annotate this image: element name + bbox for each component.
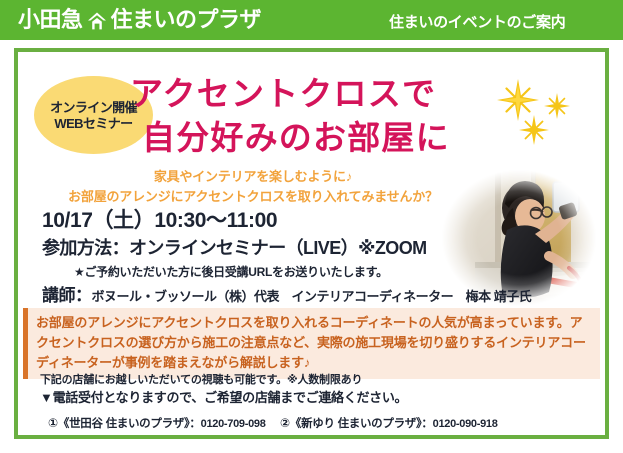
sparkle-star-icon <box>497 79 539 126</box>
list-item: ②《新ゆり 住まいのプラザ》：0120-090-918 <box>280 414 498 433</box>
headline-line-1: アクセントクロスで <box>130 72 490 116</box>
store-number: ① <box>48 416 58 430</box>
description-box: お部屋のアレンジにアクセントクロスを取り入れるコーディネートの人気が高まっていま… <box>23 308 600 379</box>
header-tagline: 住まいのイベントのご案内 <box>389 11 565 32</box>
list-item: ④《湘南 住まいのプラザ》：0120-233-309 <box>280 433 486 439</box>
sparkle-star-icon <box>519 115 549 150</box>
sparkle-star-icon <box>544 93 570 124</box>
store-name: 《あつぎ 住まいのプラザ》 <box>58 437 190 439</box>
footer-notes: 下記の店舗にお越しいただいての視聴も可能です。※人数制限あり ▼電話受付となりま… <box>40 373 600 439</box>
lead-copy: 家具やインテリアを楽しむように♪ お部屋のアレンジにアクセントクロスを取り入れて… <box>18 167 488 206</box>
list-item: ①《世田谷 住まいのプラザ》：0120-709-098 <box>48 414 280 433</box>
event-details: 10/17（土）10:30〜11:00 参加方法：オンラインセミナー（LIVE）… <box>42 208 531 308</box>
event-lecturer: 講師：ボヌール・ブッソール（株）代表 インテリアコーディネーター 梅本 靖子氏 <box>42 284 531 308</box>
footer-note-1: 下記の店舗にお越しいただいての視聴も可能です。※人数制限あり <box>40 373 600 388</box>
badge-line-2: WEBセミナー <box>54 117 132 130</box>
store-separator: ： <box>421 418 432 430</box>
store-number: ② <box>280 416 290 430</box>
store-phone[interactable]: 0120-233-309 <box>421 437 486 439</box>
flyer-panel: オンライン開催 WEBセミナー アクセントクロスで 自分好みのお部屋に 家具やイ… <box>14 48 609 439</box>
lead-line-2: お部屋のアレンジにアクセントクロスを取り入れてみませんか？ <box>18 187 488 207</box>
badge-line-1: オンライン開催 <box>50 101 137 114</box>
store-row: ①《世田谷 住まいのプラザ》：0120-709-098 ②《新ゆり 住まいのプラ… <box>48 414 600 433</box>
store-name: 《湘南 住まいのプラザ》 <box>290 437 410 439</box>
store-separator: ： <box>189 418 200 430</box>
event-url-note: ★ご予約いただいた方に後日受講URLをお送りいたします。 <box>42 264 531 281</box>
store-separator: ： <box>189 437 200 439</box>
lead-line-1: 家具やインテリアを楽しむように♪ <box>18 167 488 187</box>
list-item: ③《あつぎ 住まいのプラザ》：0120-096-209 <box>48 433 280 439</box>
store-separator: ： <box>410 437 421 439</box>
brand-logo: 小田急 住まいのプラザ <box>18 9 261 31</box>
store-phone[interactable]: 0120-709-098 <box>201 418 266 430</box>
store-number: ③ <box>48 435 58 439</box>
store-list: ①《世田谷 住まいのプラザ》：0120-709-098 ②《新ゆり 住まいのプラ… <box>40 414 600 439</box>
event-datetime: 10/17（土）10:30〜11:00 <box>42 208 531 234</box>
store-row: ③《あつぎ 住まいのプラザ》：0120-096-209 ④《湘南 住まいのプラザ… <box>48 433 600 439</box>
brand-name-right: 住まいのプラザ <box>111 9 262 31</box>
store-name: 《世田谷 住まいのプラザ》 <box>58 418 190 430</box>
store-number: ④ <box>280 435 290 439</box>
store-phone[interactable]: 0120-090-918 <box>433 418 498 430</box>
headline: アクセントクロスで 自分好みのお部屋に <box>130 72 490 159</box>
store-name: 《新ゆり 住まいのプラザ》 <box>290 418 422 430</box>
header-bar: 小田急 住まいのプラザ 住まいのイベントのご案内 <box>0 0 623 40</box>
lecturer-label: 講師： <box>42 286 92 305</box>
house-icon <box>86 10 108 32</box>
event-method: 参加方法：オンラインセミナー（LIVE）※ZOOM <box>42 236 531 260</box>
lecturer-value: ボヌール・ブッソール（株）代表 インテリアコーディネーター 梅本 靖子氏 <box>92 289 532 304</box>
description-text: お部屋のアレンジにアクセントクロスを取り入れるコーディネートの人気が高まっていま… <box>36 313 592 373</box>
store-phone[interactable]: 0120-096-209 <box>201 437 266 439</box>
brand-name-left: 小田急 <box>18 9 83 31</box>
footer-note-2: ▼電話受付となりますので、ご希望の店舗までご連絡ください。 <box>40 389 600 407</box>
headline-line-2: 自分好みのお部屋に <box>130 116 490 160</box>
